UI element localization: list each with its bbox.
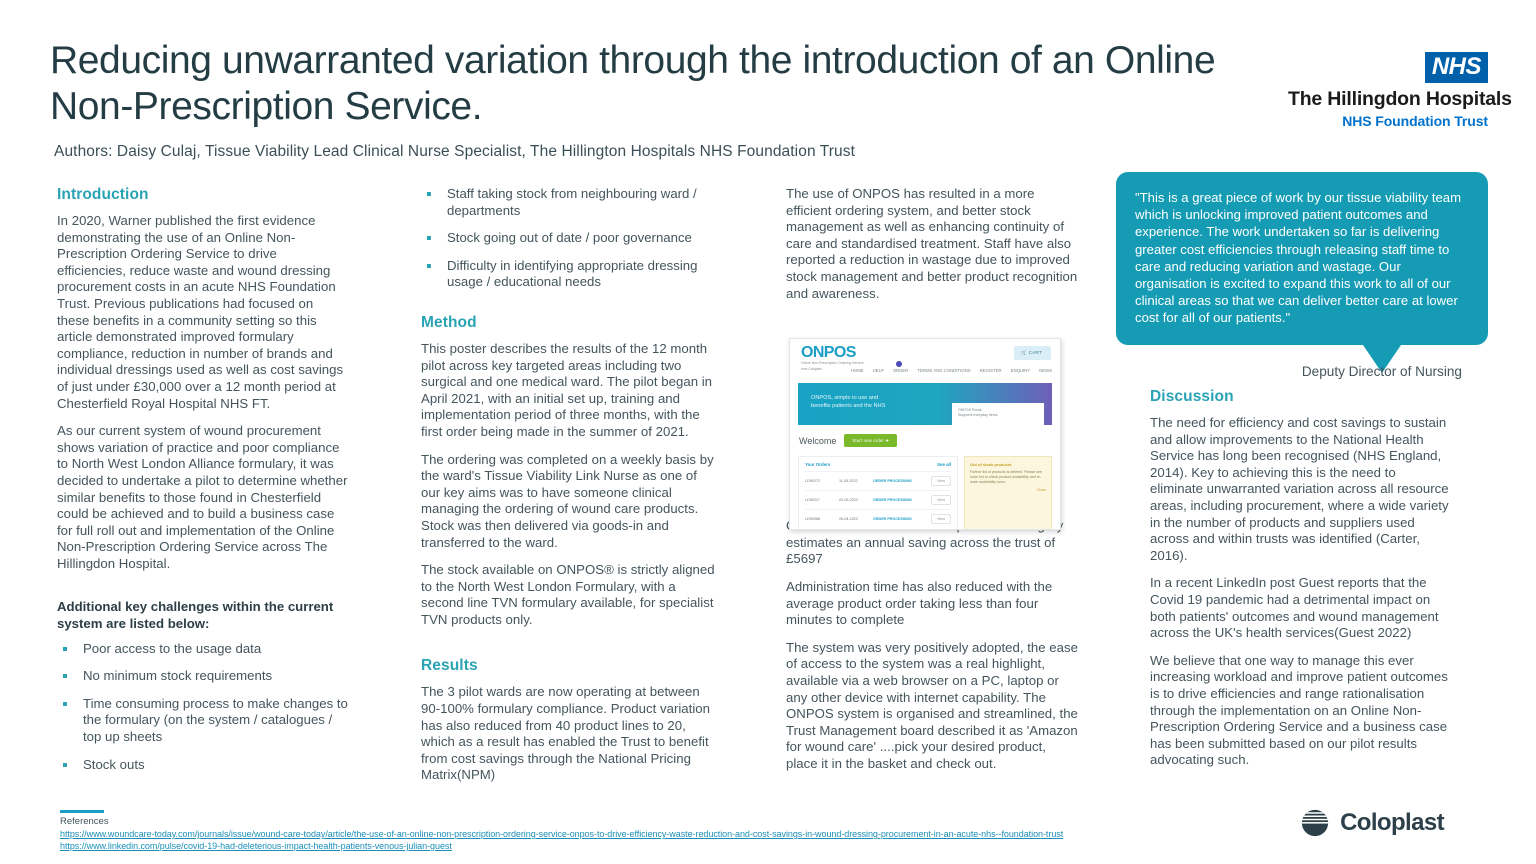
references-label: References: [60, 816, 109, 827]
onpos-logo: ONPOS: [801, 344, 856, 362]
nav-item-order[interactable]: ORDER: [893, 368, 909, 373]
list-item: Time consuming process to make changes t…: [57, 696, 349, 746]
heading-introduction: Introduction: [57, 186, 349, 204]
onpos-screenshot-figure: ONPOS Online Non-Prescription Ordering S…: [789, 338, 1061, 530]
order-status: ORDER PROCESSING: [873, 498, 931, 502]
nav-active-dot-icon: [896, 361, 902, 367]
cart-button[interactable]: 🛒 CART: [1014, 346, 1051, 360]
discussion-paragraph-1: The need for efficiency and cost savings…: [1150, 415, 1450, 564]
footer-divider: [60, 810, 104, 813]
order-date: 11-05-2022: [839, 479, 873, 483]
authors-line: Authors: Daisy Culaj, Tissue Viability L…: [54, 143, 1154, 161]
your-orders-title: Your Orders: [805, 462, 830, 467]
poster-header: Reducing unwarranted variation through t…: [0, 0, 1536, 175]
order-ref: LD90088: [805, 517, 839, 521]
nhs-wordmark: NHS: [1425, 52, 1488, 83]
heading-method: Method: [421, 314, 716, 332]
order-view-button[interactable]: View: [931, 514, 951, 524]
column-discussion: Discussion The need for efficiency and c…: [1150, 388, 1450, 780]
nav-item-help[interactable]: HELP: [873, 368, 884, 373]
poster-footer: References https://www.woundcare-today.c…: [0, 804, 1536, 864]
reference-link-2[interactable]: https://www.linkedin.com/pulse/covid-19-…: [60, 841, 452, 851]
results-paragraph-1: The 3 pilot wards are now operating at b…: [421, 684, 716, 784]
list-item: Staff taking stock from neighbouring war…: [421, 186, 716, 219]
onpos-logo-subtitle-2: from Coloplast: [801, 367, 822, 371]
order-ref: LD90272: [805, 479, 839, 483]
intro-paragraph-2: As our current system of wound procureme…: [57, 423, 349, 572]
order-status: ORDER PROCESSING: [873, 479, 931, 483]
hero-info-card: ONPOS Portal Supports everyday items: [952, 403, 1044, 429]
quote-callout: "This is a great piece of work by our ti…: [1116, 172, 1488, 345]
outcomes-paragraph-3: Administration time has also reduced wit…: [786, 579, 1078, 629]
challenges-lead: Additional key challenges within the cur…: [57, 599, 349, 632]
column-method-results: Staff taking stock from neighbouring war…: [421, 186, 716, 795]
method-paragraph-3: The stock available on ONPOS® is strictl…: [421, 562, 716, 628]
trust-name: The Hillingdon Hospitals: [1288, 88, 1488, 111]
your-orders-panel: Your Orders See all LD90272 11-05-2022 O…: [798, 456, 958, 530]
hero-card-line-2: Supports everyday items: [958, 413, 1038, 418]
nav-item-home[interactable]: HOME: [851, 368, 864, 373]
heading-discussion: Discussion: [1150, 388, 1450, 406]
onpos-dashboard-body: Your Orders See all LD90272 11-05-2022 O…: [798, 456, 1052, 530]
quote-text: "This is a great piece of work by our ti…: [1116, 172, 1488, 345]
order-date: 26-04-2022: [839, 517, 873, 521]
poster-canvas: Reducing unwarranted variation through t…: [0, 0, 1536, 864]
method-paragraph-2: The ordering was completed on a weekly b…: [421, 452, 716, 552]
start-order-label: Start new order: [852, 438, 884, 443]
onpos-hero-banner: ONPOS, simple to use and benefits patien…: [798, 383, 1052, 425]
table-row: LD90272 11-05-2022 ORDER PROCESSING View: [805, 471, 951, 490]
list-item: Difficulty in identifying appropriate dr…: [421, 258, 716, 291]
nhs-trust-logo: NHS The Hillingdon Hospitals NHS Foundat…: [1288, 52, 1488, 129]
order-date: 03-05-2022: [839, 498, 873, 502]
onpos-topbar: ONPOS Online Non-Prescription Ordering S…: [790, 339, 1060, 379]
column-introduction: Introduction In 2020, Warner published t…: [57, 186, 349, 784]
table-row: LD90217 03-05-2022 ORDER PROCESSING View: [805, 490, 951, 509]
outcomes-paragraph-1: The use of ONPOS has resulted in a more …: [786, 186, 1078, 302]
list-item: Stock going out of date / poor governanc…: [421, 230, 716, 247]
coloplast-globe-icon: [1300, 808, 1330, 838]
out-of-stock-note: Out of stock products Further list of pr…: [964, 456, 1052, 530]
coloplast-wordmark: Coloplast: [1340, 809, 1444, 837]
out-of-stock-close-link[interactable]: Close: [970, 488, 1046, 493]
order-status: ORDER PROCESSING: [873, 517, 931, 521]
start-new-order-button[interactable]: Start new order ✚: [844, 434, 897, 447]
nav-item-terms[interactable]: TERMS AND CONDITIONS: [917, 368, 970, 373]
order-view-button[interactable]: View: [931, 495, 951, 505]
out-of-stock-body: Further list of products is deleted. Ple…: [970, 470, 1046, 485]
page-title: Reducing unwarranted variation through t…: [50, 38, 1240, 130]
method-paragraph-1: This poster describes the results of the…: [421, 341, 716, 441]
cart-label: CART: [1029, 350, 1042, 355]
your-orders-header: Your Orders See all: [805, 462, 951, 467]
order-ref: LD90217: [805, 498, 839, 502]
reference-link-1[interactable]: https://www.woundcare-today.com/journals…: [60, 829, 1063, 839]
intro-paragraph-1: In 2020, Warner published the first evid…: [57, 213, 349, 412]
list-item: Poor access to the usage data: [57, 641, 349, 658]
nav-item-news[interactable]: NEWS: [1039, 368, 1052, 373]
hero-line-1: ONPOS, simple to use and: [811, 394, 1052, 402]
outcomes-paragraph-4: The system was very positively adopted, …: [786, 640, 1078, 773]
onpos-logo-subtitle: Online Non-Prescription Ordering Service: [801, 361, 864, 365]
challenges-list: Poor access to the usage data No minimum…: [57, 641, 349, 774]
challenges-list-continued: Staff taking stock from neighbouring war…: [421, 186, 716, 291]
list-item: No minimum stock requirements: [57, 668, 349, 685]
see-all-link[interactable]: See all: [937, 462, 951, 467]
list-item: Stock outs: [57, 757, 349, 774]
welcome-label: Welcome: [799, 436, 836, 446]
trust-subtitle: NHS Foundation Trust: [1288, 113, 1488, 129]
order-view-button[interactable]: View: [931, 476, 951, 486]
nav-item-register[interactable]: REGISTER: [980, 368, 1002, 373]
plus-icon: ✚: [885, 438, 889, 443]
nav-item-enquiry[interactable]: ENQUIRY: [1011, 368, 1031, 373]
quote-attribution: Deputy Director of Nursing: [1116, 364, 1462, 379]
coloplast-logo: Coloplast: [1300, 808, 1444, 838]
onpos-welcome-row: Welcome Start new order ✚: [799, 434, 1060, 447]
table-row: LD90088 26-04-2022 ORDER PROCESSING View: [805, 509, 951, 528]
discussion-paragraph-2: In a recent LinkedIn post Guest reports …: [1150, 575, 1450, 641]
cart-icon: 🛒: [1021, 350, 1027, 355]
discussion-paragraph-3: We believe that one way to manage this e…: [1150, 653, 1450, 769]
out-of-stock-title: Out of stock products: [970, 462, 1046, 467]
onpos-nav[interactable]: HOME HELP ORDER TERMS AND CONDITIONS REG…: [851, 368, 1052, 373]
heading-results: Results: [421, 657, 716, 675]
